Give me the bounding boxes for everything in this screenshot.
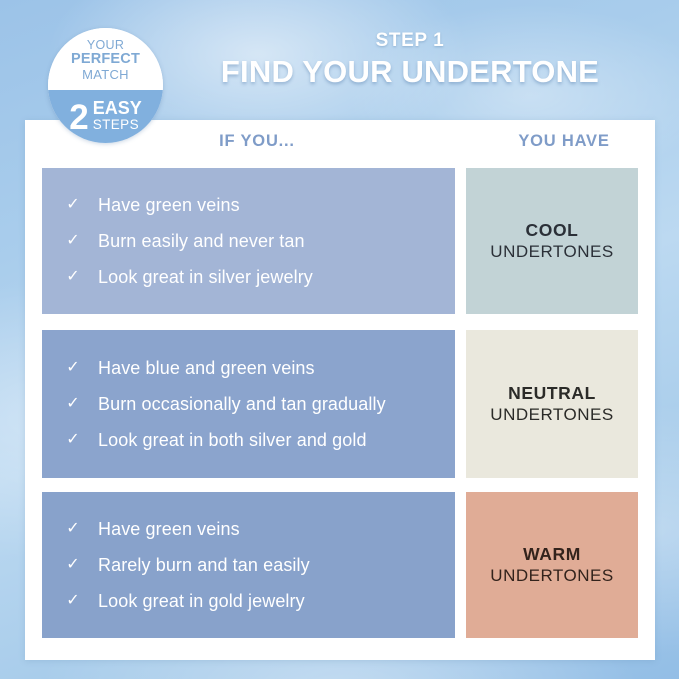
trait-label: Look great in silver jewelry (98, 267, 313, 289)
trait-label: Look great in gold jewelry (98, 591, 305, 613)
check-icon: ✓ (66, 359, 80, 377)
trait-label: Have green veins (98, 519, 240, 541)
check-icon: ✓ (66, 196, 80, 214)
check-icon: ✓ (66, 431, 80, 449)
trait-label: Rarely burn and tan easily (98, 555, 310, 577)
perfect-match-badge: YOUR PERFECT MATCH 2 EASY STEPS (48, 28, 163, 143)
trait-label: Burn occasionally and tan gradually (98, 394, 386, 416)
trait-item: ✓Burn easily and never tan (66, 231, 439, 253)
badge-word-steps: STEPS (93, 118, 139, 132)
traits-panel: ✓Have green veins✓Rarely burn and tan ea… (42, 492, 455, 638)
badge-line-your: YOUR (87, 39, 124, 53)
trait-item: ✓Have green veins (66, 195, 439, 217)
traits-panel: ✓Have blue and green veins✓Burn occasion… (42, 330, 455, 478)
trait-item: ✓Have green veins (66, 519, 439, 541)
trait-item: ✓Look great in gold jewelry (66, 591, 439, 613)
check-icon: ✓ (66, 395, 80, 413)
undertone-swatch: NEUTRALUNDERTONES (466, 330, 638, 478)
undertone-sublabel: UNDERTONES (490, 242, 613, 262)
check-icon: ✓ (66, 268, 80, 286)
check-icon: ✓ (66, 232, 80, 250)
badge-top-section: YOUR PERFECT MATCH (48, 28, 163, 90)
badge-word-easy: EASY (93, 99, 142, 117)
undertone-sublabel: UNDERTONES (490, 405, 613, 425)
trait-label: Look great in both silver and gold (98, 430, 367, 452)
trait-item: ✓Burn occasionally and tan gradually (66, 394, 439, 416)
trait-item: ✓Look great in both silver and gold (66, 430, 439, 452)
undertone-name: NEUTRAL (508, 383, 596, 404)
check-icon: ✓ (66, 520, 80, 538)
badge-bottom-section: 2 EASY STEPS (48, 90, 163, 143)
column-header-you-have: YOU HAVE (466, 132, 662, 151)
undertone-swatch: WARMUNDERTONES (466, 492, 638, 638)
trait-item: ✓Look great in silver jewelry (66, 267, 439, 289)
undertone-name: COOL (526, 220, 579, 241)
trait-item: ✓Rarely burn and tan easily (66, 555, 439, 577)
check-icon: ✓ (66, 592, 80, 610)
step-label: STEP 1 (170, 30, 650, 52)
trait-label: Have green veins (98, 195, 240, 217)
trait-item: ✓Have blue and green veins (66, 358, 439, 380)
trait-label: Burn easily and never tan (98, 231, 305, 253)
badge-step-words: EASY STEPS (93, 99, 142, 132)
trait-label: Have blue and green veins (98, 358, 315, 380)
traits-panel: ✓Have green veins✓Burn easily and never … (42, 168, 455, 314)
undertone-sublabel: UNDERTONES (490, 566, 613, 586)
undertone-name: WARM (523, 544, 581, 565)
check-icon: ✓ (66, 556, 80, 574)
badge-step-count: 2 (69, 100, 88, 135)
badge-line-match: MATCH (82, 68, 129, 82)
badge-line-perfect: PERFECT (71, 52, 140, 68)
undertone-swatch: COOLUNDERTONES (466, 168, 638, 314)
page-title: FIND YOUR UNDERTONE (150, 54, 670, 90)
